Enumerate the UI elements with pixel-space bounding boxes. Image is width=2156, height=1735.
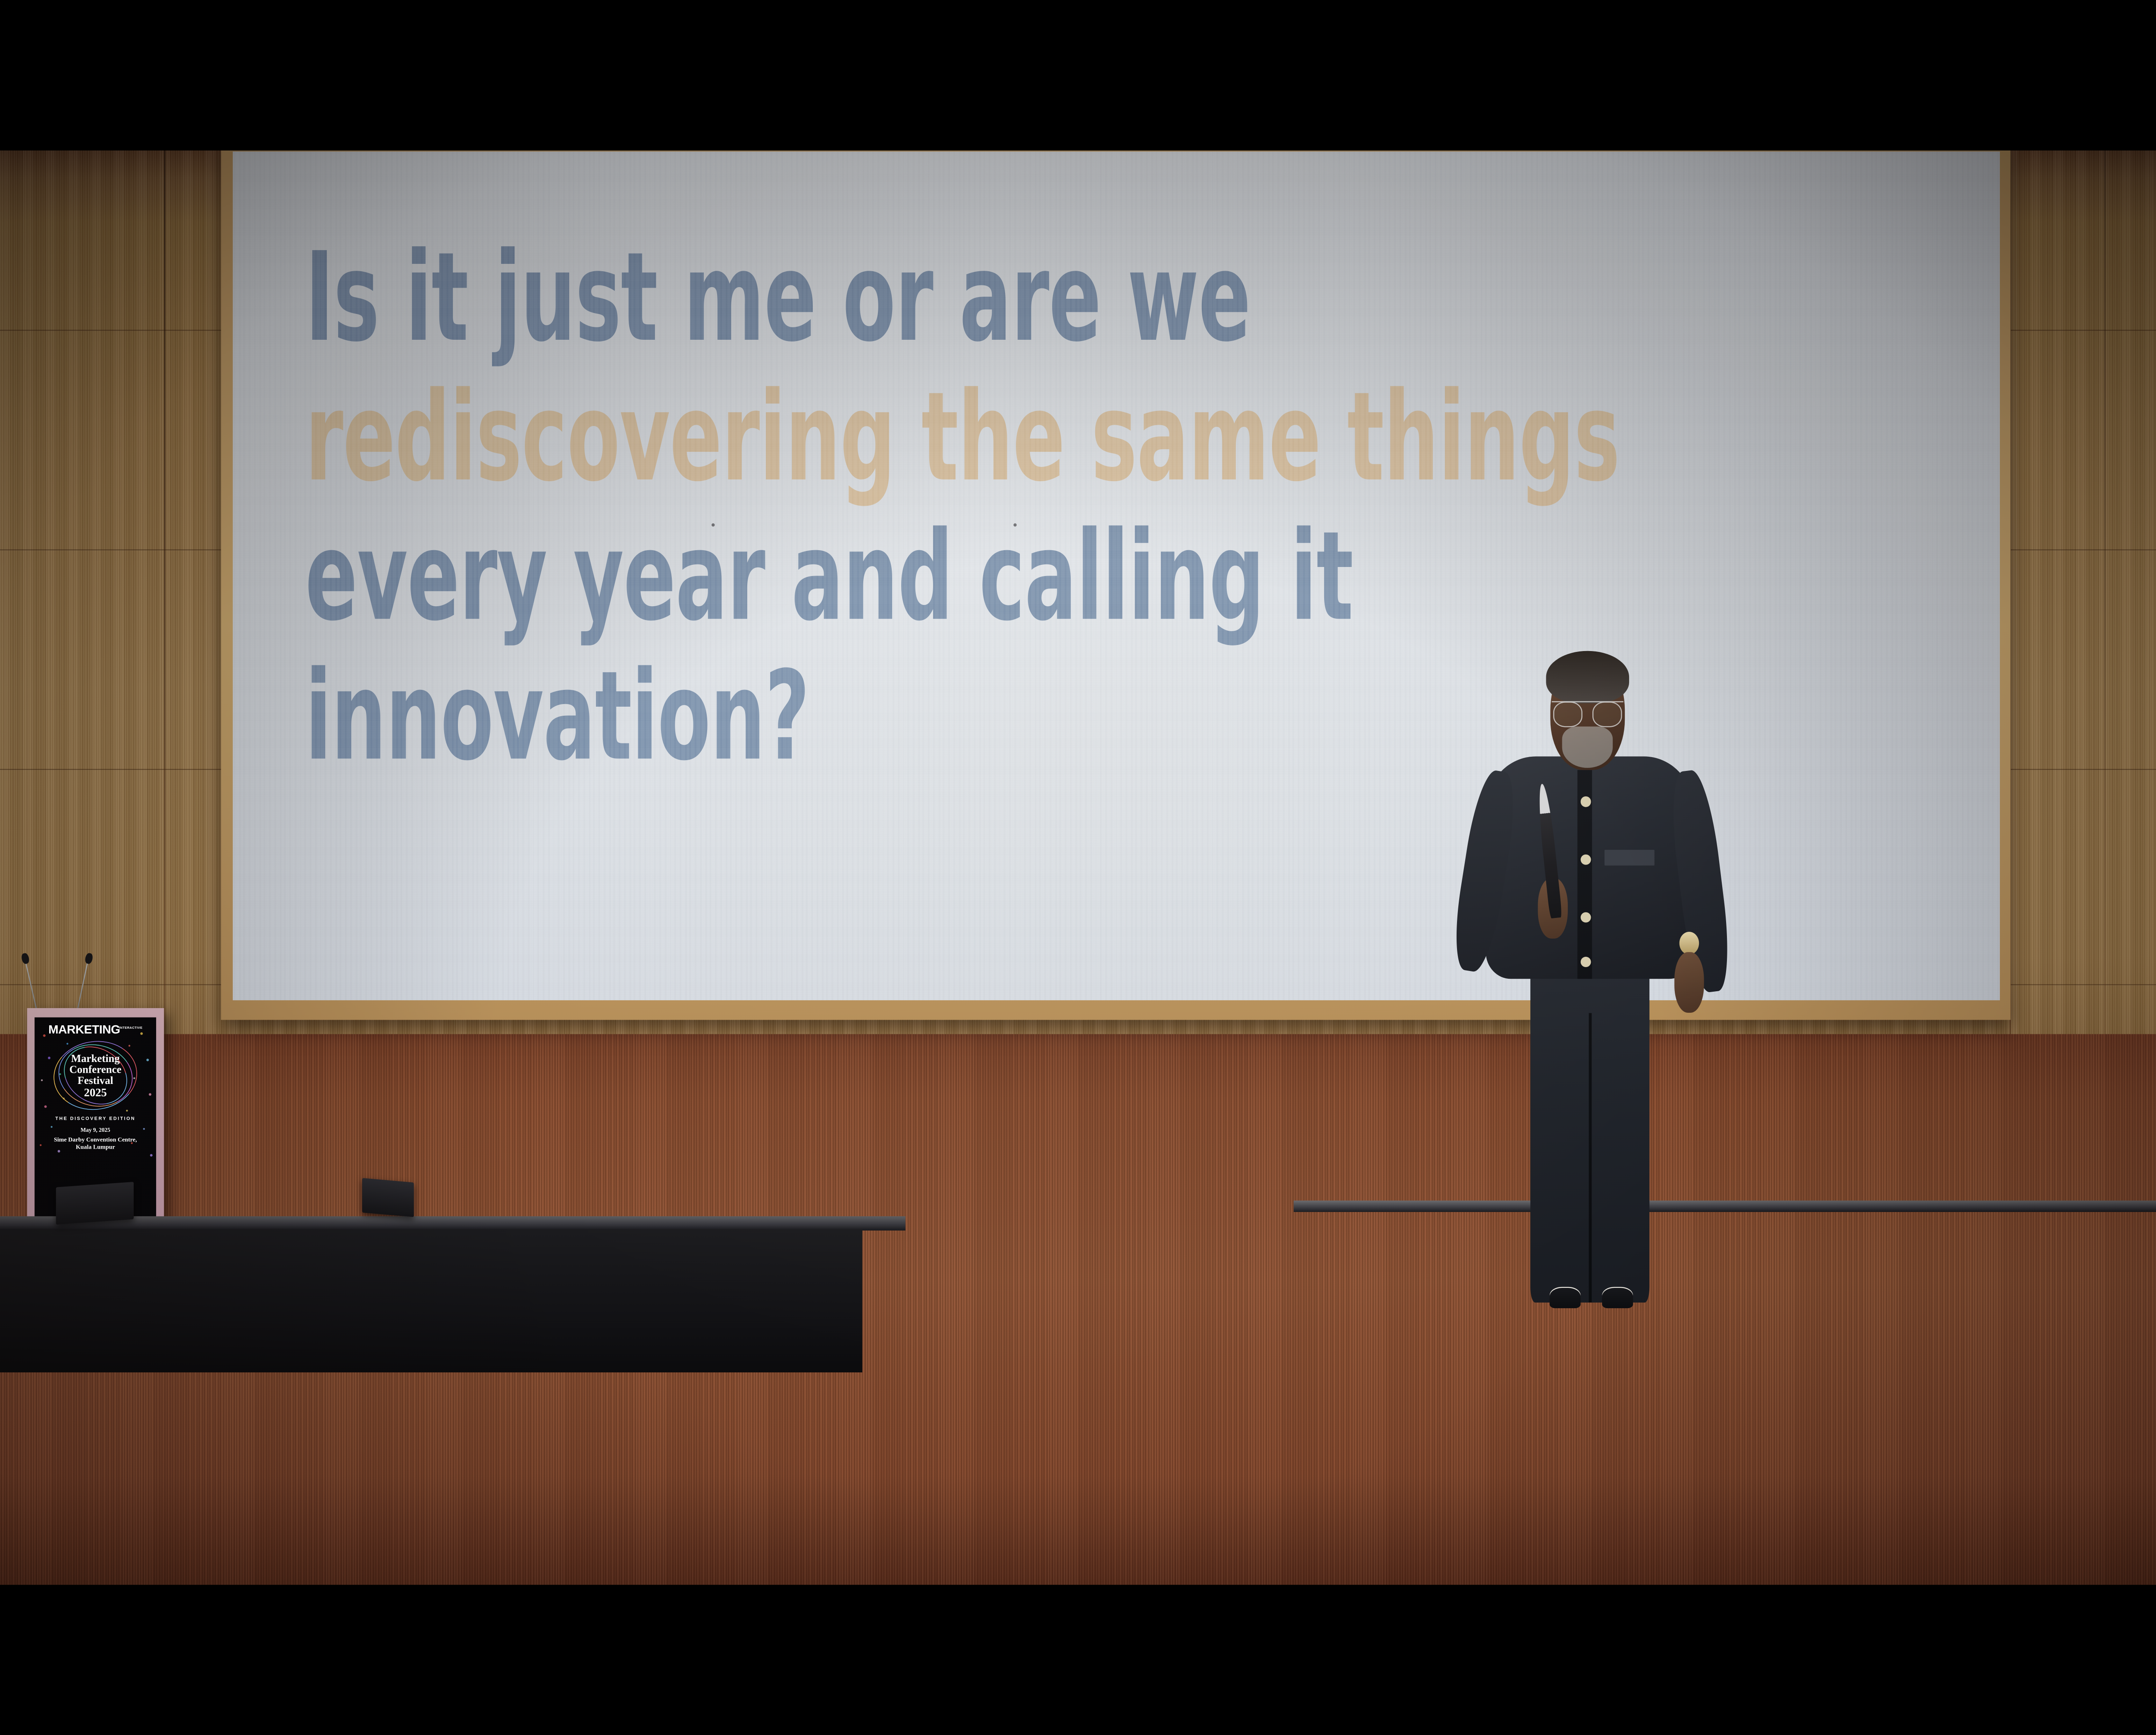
event-title-line-2: Conference [69, 1064, 122, 1075]
stage-monitor-center [362, 1178, 414, 1217]
conference-photograph: Is it just me or are we rediscovering th… [0, 150, 2156, 1585]
speaker-denim-jacket [1486, 756, 1694, 979]
sign-brand-logo: MARKETINGINTERACTIVE [48, 1023, 142, 1035]
event-title-line-1: Marketing [69, 1053, 122, 1064]
speaker-presenter [1466, 655, 1714, 1330]
stage-edge-right [1294, 1200, 2156, 1212]
event-title: Marketing Conference Festival 2025 [69, 1053, 122, 1098]
event-venue-line-1: Sime Darby Convention Centre, [54, 1136, 137, 1143]
speaker-shoe-right [1602, 1287, 1633, 1308]
event-year: 2025 [69, 1086, 122, 1098]
speaker-hair [1546, 651, 1629, 703]
rainbow-rings-graphic: Marketing Conference Festival 2025 [52, 1040, 139, 1112]
event-date: May 9, 2025 [81, 1127, 110, 1134]
event-edition-label: THE DISCOVERY EDITION [55, 1116, 135, 1121]
speaker-glasses [1552, 701, 1623, 720]
stage-edge-left [0, 1216, 906, 1230]
speaker-shoe-left [1550, 1287, 1581, 1308]
sign-brand-text: MARKETING [48, 1022, 120, 1036]
slide-line-2: rediscovering the same things [305, 367, 1925, 507]
event-venue: Sime Darby Convention Centre, Kuala Lump… [54, 1136, 137, 1151]
speaker-hand-clicker [1674, 952, 1704, 1013]
slide-line-3: every year and calling it [305, 507, 1925, 647]
stage-skirt [0, 1229, 862, 1372]
speaker-head [1550, 655, 1624, 770]
sign-brand-superscript: INTERACTIVE [119, 1026, 142, 1029]
event-venue-line-2: Kuala Lumpur [54, 1143, 137, 1151]
speaker-wristwatch [1679, 932, 1699, 955]
speaker-beard [1562, 726, 1613, 767]
slide-line-1: Is it just me or are we [305, 228, 1925, 367]
stage-monitor-left [56, 1182, 134, 1225]
projection-screen: Is it just me or are we rediscovering th… [233, 151, 2000, 1000]
projection-screen-frame: Is it just me or are we rediscovering th… [221, 150, 2010, 1020]
event-title-line-3: Festival [69, 1075, 122, 1086]
